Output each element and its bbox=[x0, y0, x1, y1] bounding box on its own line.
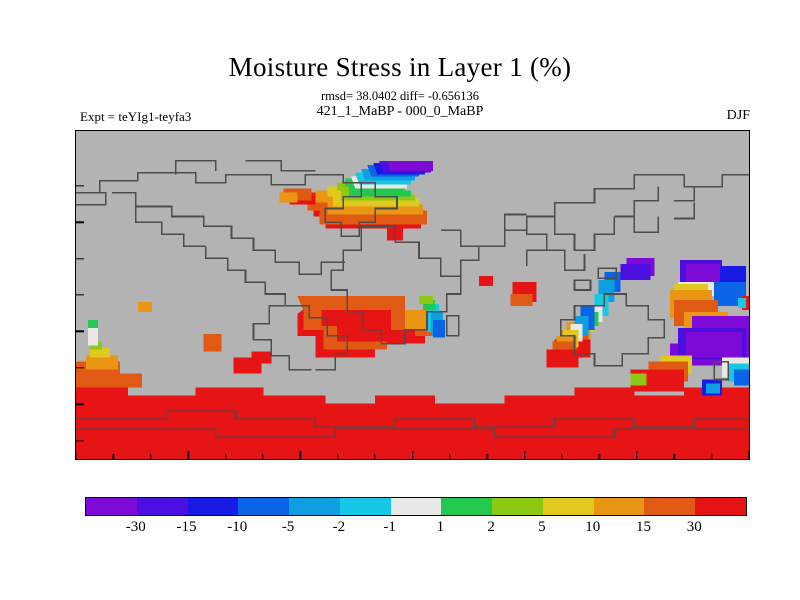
colorbar-labels: -30-15-10-5-2-1125101530 bbox=[85, 519, 745, 539]
colorbar-band bbox=[137, 498, 188, 515]
colorbar-band bbox=[695, 498, 746, 515]
colorbar-band bbox=[543, 498, 594, 515]
colorbar-band bbox=[594, 498, 645, 515]
experiment-label: Expt = teYIg1-teyfa3 bbox=[80, 109, 191, 125]
colorbar-band bbox=[391, 498, 442, 515]
colorbar-tick-label: 30 bbox=[687, 519, 702, 536]
map-plot-area: 80N 40N 0 40S 180 120W 60W 0 60E 120E 18… bbox=[75, 130, 750, 460]
page-title: Moisture Stress in Layer 1 (%) bbox=[0, 52, 800, 83]
colorbar-band bbox=[289, 498, 340, 515]
colorbar-tick-label: 1 bbox=[437, 519, 445, 536]
colorbar-band bbox=[238, 498, 289, 515]
season-label: DJF bbox=[727, 108, 750, 124]
colorbar-band bbox=[441, 498, 492, 515]
colorbar-tick-label: -10 bbox=[227, 519, 247, 536]
colorbar-tick-label: 10 bbox=[585, 519, 600, 536]
colorbar-tick-label: -15 bbox=[177, 519, 197, 536]
colorbar-band bbox=[644, 498, 695, 515]
map-layers bbox=[76, 131, 749, 459]
colorbar-band bbox=[188, 498, 239, 515]
coastlines bbox=[76, 131, 749, 459]
colorbar-tick-label: -30 bbox=[126, 519, 146, 536]
statistics-line: rmsd= 38.0402 diff= -0.656136 bbox=[0, 89, 800, 104]
colorbar-band bbox=[492, 498, 543, 515]
colorbar-tick-label: -5 bbox=[282, 519, 295, 536]
colorbar-tick-label: -2 bbox=[333, 519, 346, 536]
colorbar-tick-label: 15 bbox=[636, 519, 651, 536]
colorbar-tick-label: 5 bbox=[538, 519, 546, 536]
colorbar bbox=[85, 497, 747, 516]
colorbar-tick-label: 2 bbox=[487, 519, 495, 536]
colorbar-band bbox=[86, 498, 137, 515]
colorbar-band bbox=[340, 498, 391, 515]
colorbar-tick-label: -1 bbox=[383, 519, 396, 536]
